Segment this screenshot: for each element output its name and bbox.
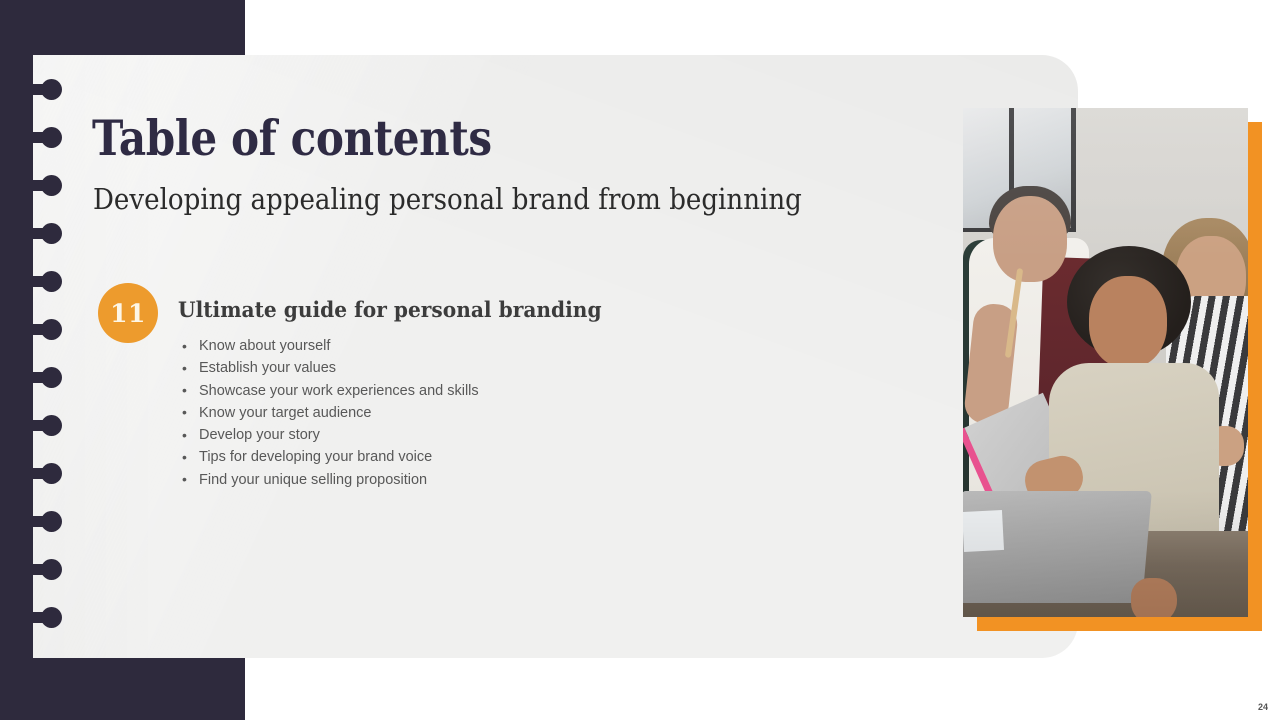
- spiral-ring: [22, 132, 58, 143]
- spiral-ring: [22, 372, 58, 383]
- photo-person-center-hand: [1131, 578, 1177, 617]
- page-title: Table of contents: [92, 112, 492, 166]
- spiral-ring: [22, 180, 58, 191]
- team-photo: [963, 108, 1248, 617]
- photo-person-left-head: [993, 196, 1067, 282]
- slide-canvas: Table of contents Developing appealing p…: [0, 0, 1280, 720]
- spiral-binding-rings: [0, 0, 90, 720]
- section-bullet-list: Know about yourselfEstablish your values…: [180, 335, 479, 491]
- section-heading: Ultimate guide for personal branding: [178, 297, 602, 322]
- bullet-item: Showcase your work experiences and skill…: [180, 380, 479, 402]
- spiral-ring: [22, 612, 58, 623]
- spiral-ring: [22, 84, 58, 95]
- bullet-item: Develop your story: [180, 424, 479, 446]
- photo-paper-sheet: [963, 510, 1004, 552]
- bullet-item: Establish your values: [180, 357, 479, 379]
- spiral-ring: [22, 564, 58, 575]
- photo-person-center-head: [1089, 276, 1167, 368]
- spiral-ring: [22, 228, 58, 239]
- page-subtitle: Developing appealing personal brand from…: [93, 183, 802, 216]
- spiral-ring: [22, 324, 58, 335]
- section-number-badge: 11: [98, 283, 158, 343]
- page-number: 24: [1258, 702, 1268, 712]
- bullet-item: Know your target audience: [180, 402, 479, 424]
- spiral-ring: [22, 420, 58, 431]
- bullet-item: Know about yourself: [180, 335, 479, 357]
- bullet-item: Tips for developing your brand voice: [180, 446, 479, 468]
- spiral-ring: [22, 516, 58, 527]
- spiral-ring: [22, 468, 58, 479]
- photo-scene: [963, 108, 1248, 617]
- spiral-ring: [22, 276, 58, 287]
- bullet-item: Find your unique selling proposition: [180, 469, 479, 491]
